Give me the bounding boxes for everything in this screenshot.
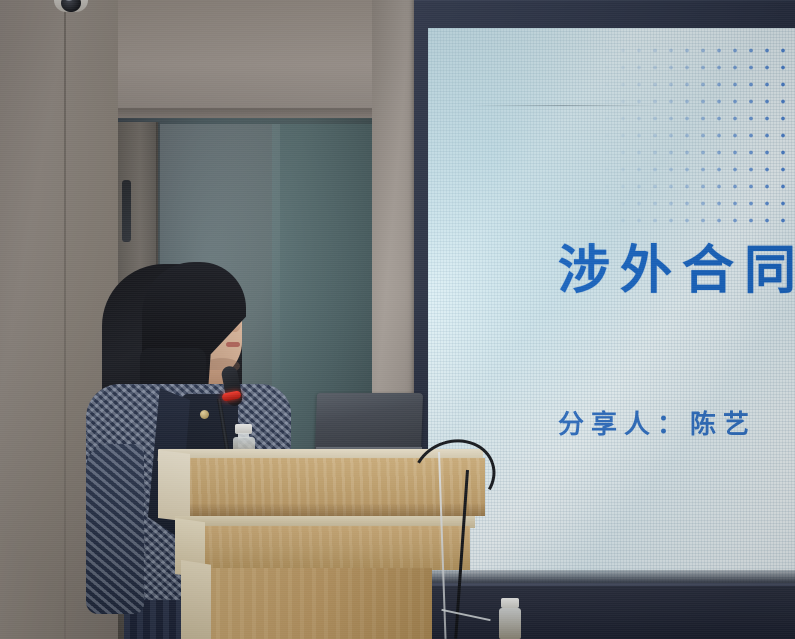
lips (226, 342, 240, 347)
podium-base (204, 568, 432, 639)
security-camera (54, 0, 88, 26)
podium-base-left-side (181, 560, 211, 639)
slide-presenter-text: 分享人：陈艺 (558, 404, 756, 441)
slide-dot-pattern-decoration (599, 42, 795, 232)
screen-scratch-mark (468, 105, 658, 106)
stage-front-edge (415, 583, 795, 586)
screen-lower-shadow (428, 570, 795, 584)
podium-left-side (158, 450, 190, 522)
water-bottle-on-stage[interactable] (498, 598, 522, 639)
left-arm-sleeve (86, 444, 144, 614)
laptop-lid[interactable] (315, 393, 423, 451)
bottle-cap (501, 598, 519, 608)
wall-panel-seam (64, 0, 66, 639)
podium-mid-panel (180, 526, 470, 570)
bezel-highlight (414, 0, 795, 2)
slide-title-text: 涉外合同 (558, 228, 795, 303)
stage-front-panel (415, 583, 795, 639)
jacket-button (200, 410, 209, 419)
bottle-body (499, 608, 521, 639)
presentation-photo-scene: 涉外合同 分享人：陈艺 (0, 0, 795, 639)
